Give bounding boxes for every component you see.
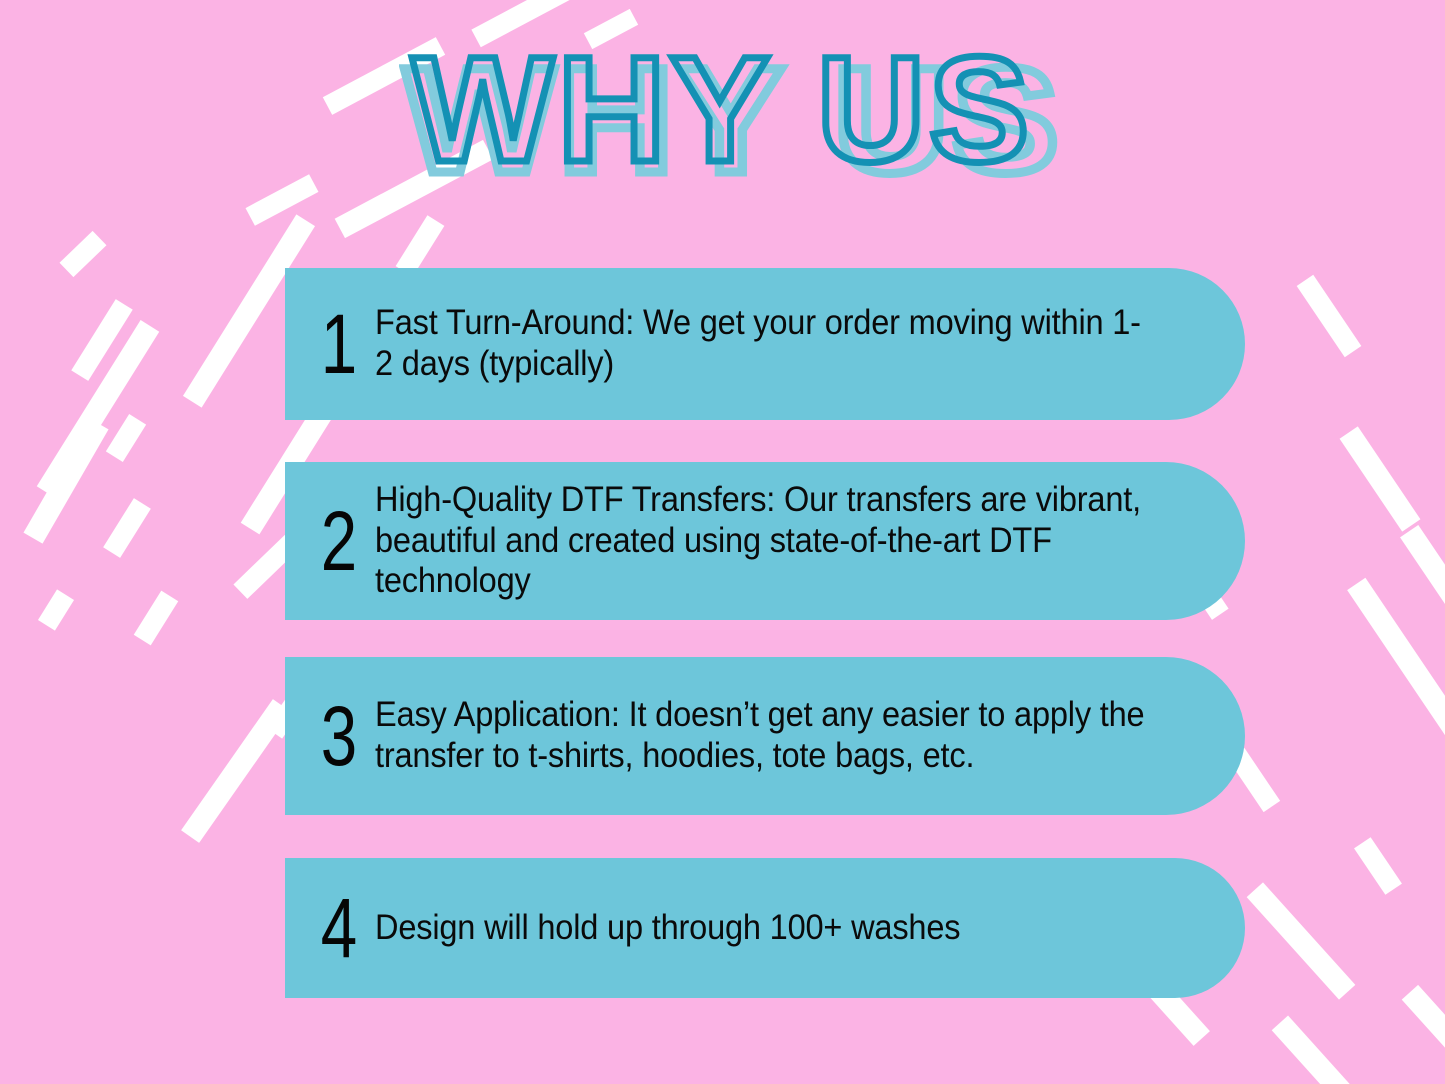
decorative-dash — [1347, 578, 1445, 764]
benefit-text: Easy Application: It doesn’t get any eas… — [375, 695, 1184, 777]
decorative-dash — [1400, 525, 1445, 617]
decorative-dash — [1247, 882, 1356, 999]
page-title: WHY US WHY US — [0, 34, 1445, 184]
benefit-card: 1 Fast Turn-Around: We get your order mo… — [285, 268, 1245, 420]
title-outline-layer: WHY US — [412, 25, 1033, 193]
decorative-dash — [103, 498, 151, 558]
decorative-dash — [37, 320, 160, 498]
benefit-number: 3 — [311, 694, 367, 778]
decorative-dash — [60, 231, 107, 277]
title-stack: WHY US WHY US — [412, 34, 1033, 184]
benefit-number: 1 — [311, 302, 367, 386]
benefit-card: 2 High-Quality DTF Transfers: Our transf… — [285, 462, 1245, 620]
benefit-number: 2 — [311, 499, 367, 583]
decorative-dash — [1402, 985, 1445, 1053]
decorative-dash — [106, 414, 146, 462]
benefit-text: Fast Turn-Around: We get your order movi… — [375, 303, 1184, 385]
decorative-dash — [1297, 275, 1362, 357]
decorative-dash — [1354, 837, 1402, 895]
decorative-dash — [1340, 426, 1421, 531]
decorative-dash — [181, 699, 291, 843]
benefit-card-list: 1 Fast Turn-Around: We get your order mo… — [285, 268, 1245, 998]
decorative-dash — [38, 589, 74, 630]
decorative-dash — [134, 591, 179, 646]
benefit-text: Design will hold up through 100+ washes — [375, 908, 1184, 949]
decorative-dash — [23, 418, 108, 543]
decorative-dash — [71, 299, 132, 381]
decorative-dash — [1272, 1016, 1361, 1084]
benefit-number: 4 — [311, 886, 367, 970]
benefit-text: High-Quality DTF Transfers: Our transfer… — [375, 480, 1184, 603]
benefit-card: 4 Design will hold up through 100+ washe… — [285, 858, 1245, 998]
why-us-poster: WHY US WHY US 1 Fast Turn-Around: We get… — [0, 0, 1445, 1084]
benefit-card: 3 Easy Application: It doesn’t get any e… — [285, 657, 1245, 815]
